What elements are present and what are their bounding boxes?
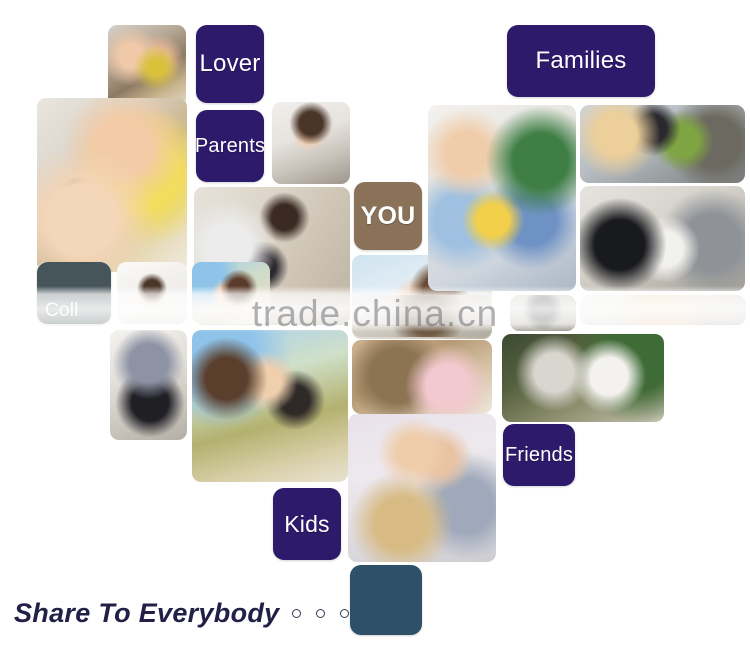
photo-man-glasses xyxy=(117,262,187,324)
tagline-dot-1 xyxy=(292,609,301,618)
label-tile-parents[interactable]: Parents xyxy=(196,110,264,182)
label-text-lover: Lover xyxy=(199,52,260,76)
photo-left-column-man xyxy=(110,330,187,440)
label-tile-families[interactable]: Families xyxy=(507,25,655,97)
photo-two-men-garden xyxy=(502,334,664,422)
photo-three-men xyxy=(580,186,745,291)
photo-shopping-family xyxy=(348,414,496,562)
label-tile-blank[interactable] xyxy=(350,565,422,635)
tagline-dot-3 xyxy=(340,609,349,618)
label-text-parents: Parents xyxy=(195,136,265,156)
label-text-families: Families xyxy=(536,49,627,73)
photo-strip-d xyxy=(352,295,492,337)
label-tile-colleagues[interactable]: Coll xyxy=(37,262,111,324)
label-tile-you[interactable]: YOU xyxy=(354,182,422,250)
footer-tagline: Share To Everybody xyxy=(14,598,349,629)
photo-hug xyxy=(352,340,492,414)
photo-lover-couple xyxy=(108,25,186,107)
photo-wedding-couple xyxy=(192,262,270,324)
photo-strip-c xyxy=(580,295,746,325)
photo-strip-b xyxy=(510,295,576,331)
collage-canvas: Lover Families Parents YOU Coll Friends … xyxy=(0,0,750,661)
label-text-colleagues: Coll xyxy=(45,301,79,320)
label-tile-kids[interactable]: Kids xyxy=(273,488,341,560)
label-tile-lover[interactable]: Lover xyxy=(196,25,264,103)
tagline-dot-2 xyxy=(316,609,325,618)
photo-christmas-family xyxy=(428,105,576,291)
photo-picnic-family xyxy=(192,330,348,482)
photo-sunglasses-pair xyxy=(37,98,187,272)
label-text-friends: Friends xyxy=(505,445,573,465)
tagline-text: Share To Everybody xyxy=(14,598,280,629)
label-text-you: YOU xyxy=(361,204,416,229)
label-tile-friends[interactable]: Friends xyxy=(503,424,575,486)
photo-thinking-man xyxy=(272,102,350,184)
tagline-dots xyxy=(292,609,349,618)
photo-friends-hats xyxy=(580,105,745,183)
label-text-kids: Kids xyxy=(284,513,330,536)
